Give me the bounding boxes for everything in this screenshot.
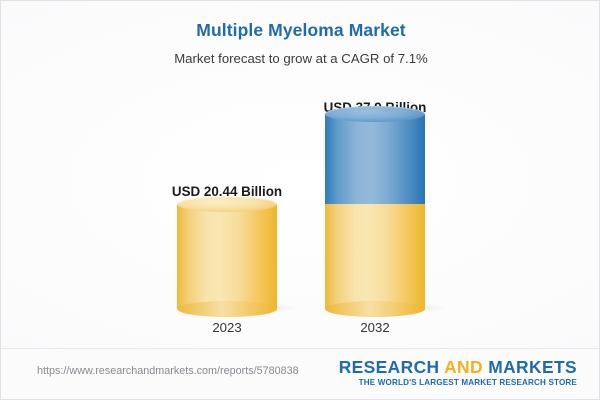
category-label-2032: 2032 <box>305 320 445 335</box>
bar-segment-body <box>325 204 425 309</box>
bar-segment-2032-base <box>325 204 425 309</box>
brand-word-research: RESEARCH <box>339 357 440 377</box>
bar-segment-2023-base <box>177 204 277 309</box>
footer-bar: https://www.researchandmarkets.com/repor… <box>1 348 599 399</box>
brand-logo-wordmark: RESEARCH AND MARKETS <box>339 358 577 377</box>
chart-plot-area: USD 20.44 Billion 2023 USD 37.9 Billion <box>1 1 600 349</box>
bar-segment-foot <box>177 301 277 317</box>
brand-tagline: THE WORLD'S LARGEST MARKET RESEARCH STOR… <box>339 378 577 388</box>
brand-word-and: AND <box>444 357 483 377</box>
brand-logo[interactable]: RESEARCH AND MARKETS THE WORLD'S LARGEST… <box>339 358 577 388</box>
bar-segment-body <box>177 204 277 309</box>
report-url[interactable]: https://www.researchandmarkets.com/repor… <box>37 365 299 377</box>
bar-segment-cap <box>177 196 277 212</box>
infographic-card: Multiple Myeloma Market Market forecast … <box>0 0 600 400</box>
bar-segment-foot <box>325 301 425 317</box>
brand-word-markets: MARKETS <box>488 357 577 377</box>
bar-segment-body <box>325 114 425 204</box>
category-label-2023: 2023 <box>157 320 297 335</box>
bar-segment-2032-growth <box>325 114 425 204</box>
bar-segment-cap <box>325 106 425 122</box>
